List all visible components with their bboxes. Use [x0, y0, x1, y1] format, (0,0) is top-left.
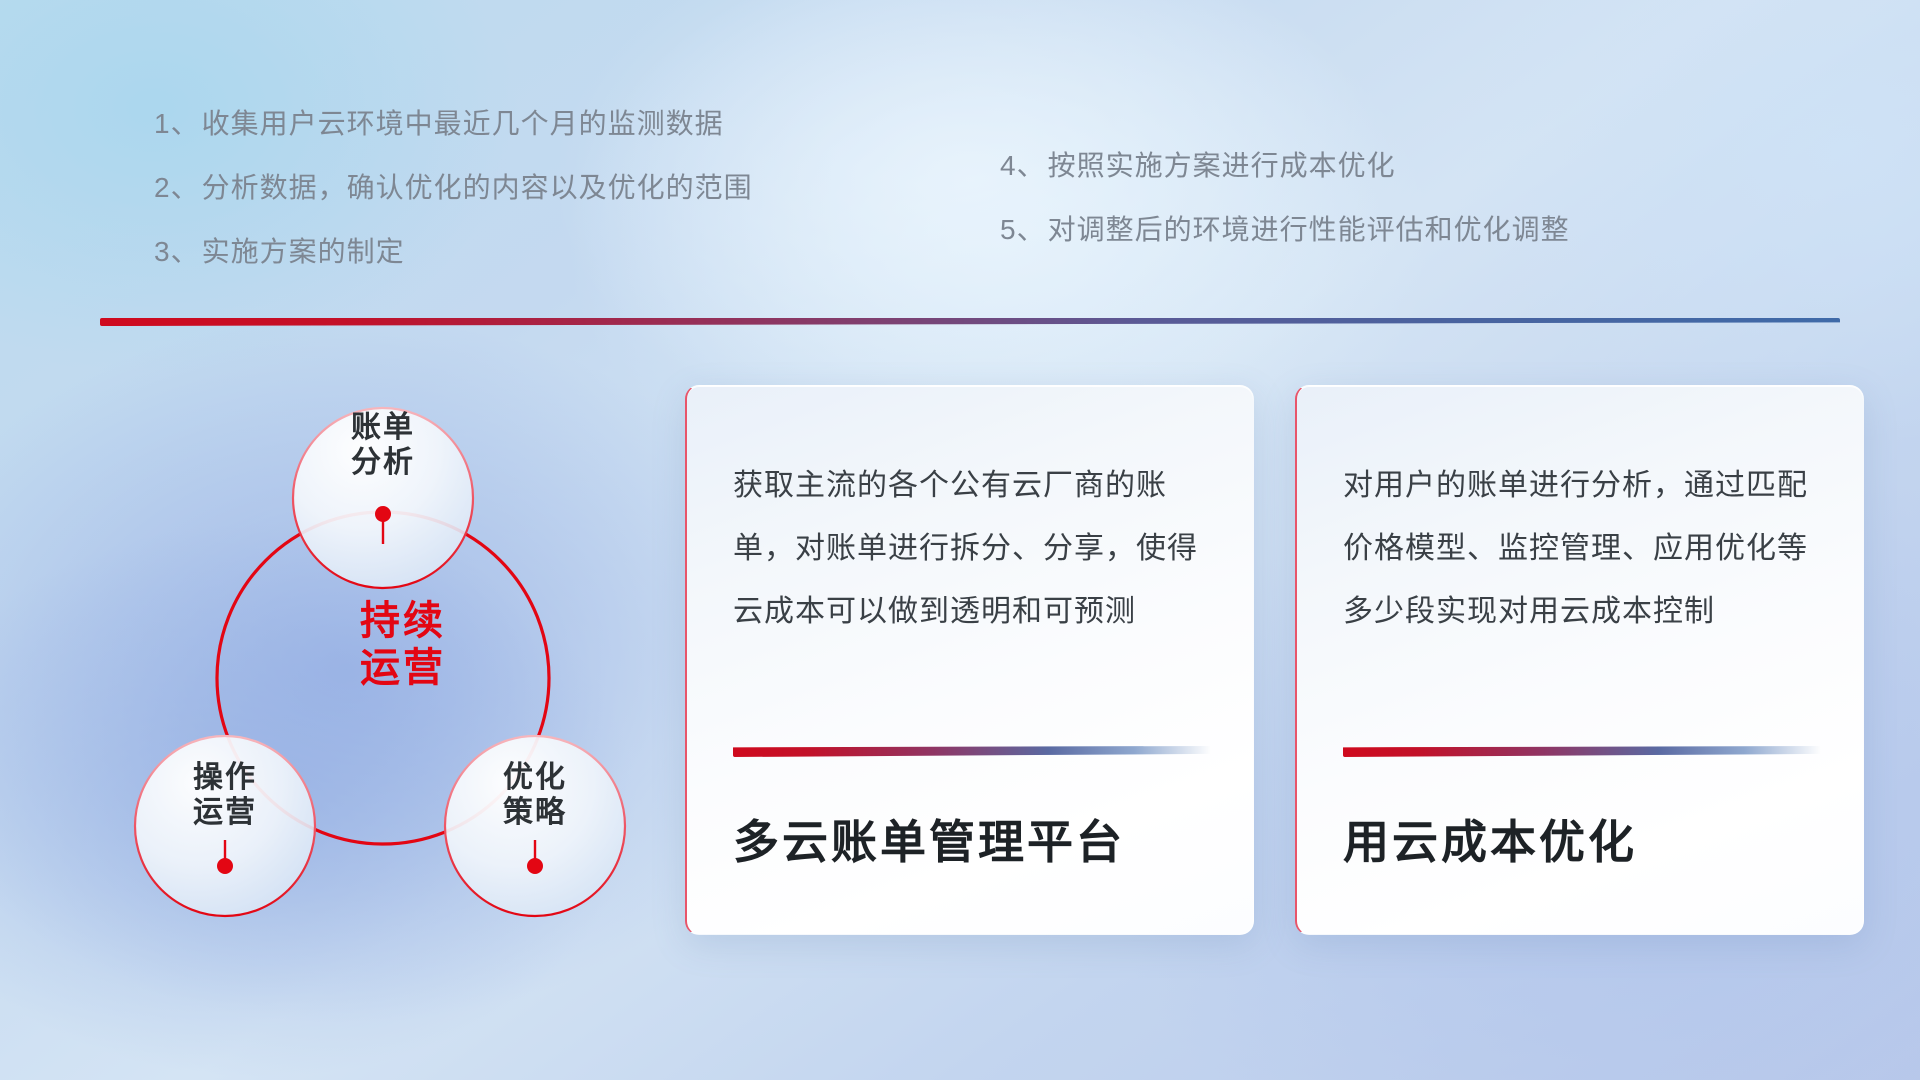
- step-item: 3、实施方案的制定: [154, 238, 753, 266]
- step-text: 实施方案的制定: [202, 236, 405, 267]
- venn-node-dot-top: [375, 506, 391, 522]
- step-item: 4、按照实施方案进行成本优化: [1000, 152, 1570, 180]
- step-number: 5、: [1000, 214, 1046, 245]
- step-text: 分析数据，确认优化的内容以及优化的范围: [202, 172, 753, 203]
- step-number: 3、: [154, 236, 200, 267]
- venn-label-optimization-policy: 优化 策略: [445, 760, 625, 831]
- card-body-text: 对用户的账单进行分析，通过匹配价格模型、监控管理、应用优化等多少段实现对用云成本…: [1343, 454, 1825, 643]
- step-text: 对调整后的环境进行性能评估和优化调整: [1048, 214, 1570, 245]
- step-number: 1、: [154, 108, 200, 139]
- step-number: 4、: [1000, 150, 1046, 181]
- step-item: 5、对调整后的环境进行性能评估和优化调整: [1000, 216, 1570, 244]
- steps-column-right: 4、按照实施方案进行成本优化 5、对调整后的环境进行性能评估和优化调整: [1000, 152, 1570, 244]
- venn-label-bill-analysis: 账单 分析: [293, 410, 473, 481]
- card-multi-cloud-bill-platform[interactable]: 获取主流的各个公有云厂商的账单，对账单进行拆分、分享，使得云成本可以做到透明和可…: [685, 385, 1254, 935]
- venn-label-operations: 操作 运营: [135, 760, 315, 831]
- step-number: 2、: [154, 172, 200, 203]
- venn-node-dot-left: [217, 858, 233, 874]
- card-divider: [733, 746, 1211, 757]
- venn-label-center: 持续 运营: [313, 598, 493, 692]
- header-divider-bar: [100, 318, 1840, 326]
- card-divider: [1343, 746, 1821, 757]
- header-divider-rule: [100, 318, 1840, 326]
- step-text: 按照实施方案进行成本优化: [1048, 150, 1396, 181]
- card-title: 用云成本优化: [1343, 806, 1637, 872]
- card-title: 多云账单管理平台: [733, 806, 1125, 872]
- step-item: 1、收集用户云环境中最近几个月的监测数据: [154, 110, 753, 138]
- venn-diagram: 账单 分析 持续 运营 操作 运营 优化 策略: [95, 348, 655, 948]
- card-cloud-cost-optimization[interactable]: 对用户的账单进行分析，通过匹配价格模型、监控管理、应用优化等多少段实现对用云成本…: [1295, 385, 1864, 935]
- steps-column-left: 1、收集用户云环境中最近几个月的监测数据 2、分析数据，确认优化的内容以及优化的…: [154, 110, 753, 266]
- steps-section: 1、收集用户云环境中最近几个月的监测数据 2、分析数据，确认优化的内容以及优化的…: [0, 0, 1920, 300]
- card-body-text: 获取主流的各个公有云厂商的账单，对账单进行拆分、分享，使得云成本可以做到透明和可…: [733, 454, 1215, 643]
- venn-node-dot-right: [527, 858, 543, 874]
- step-text: 收集用户云环境中最近几个月的监测数据: [202, 108, 724, 139]
- step-item: 2、分析数据，确认优化的内容以及优化的范围: [154, 174, 753, 202]
